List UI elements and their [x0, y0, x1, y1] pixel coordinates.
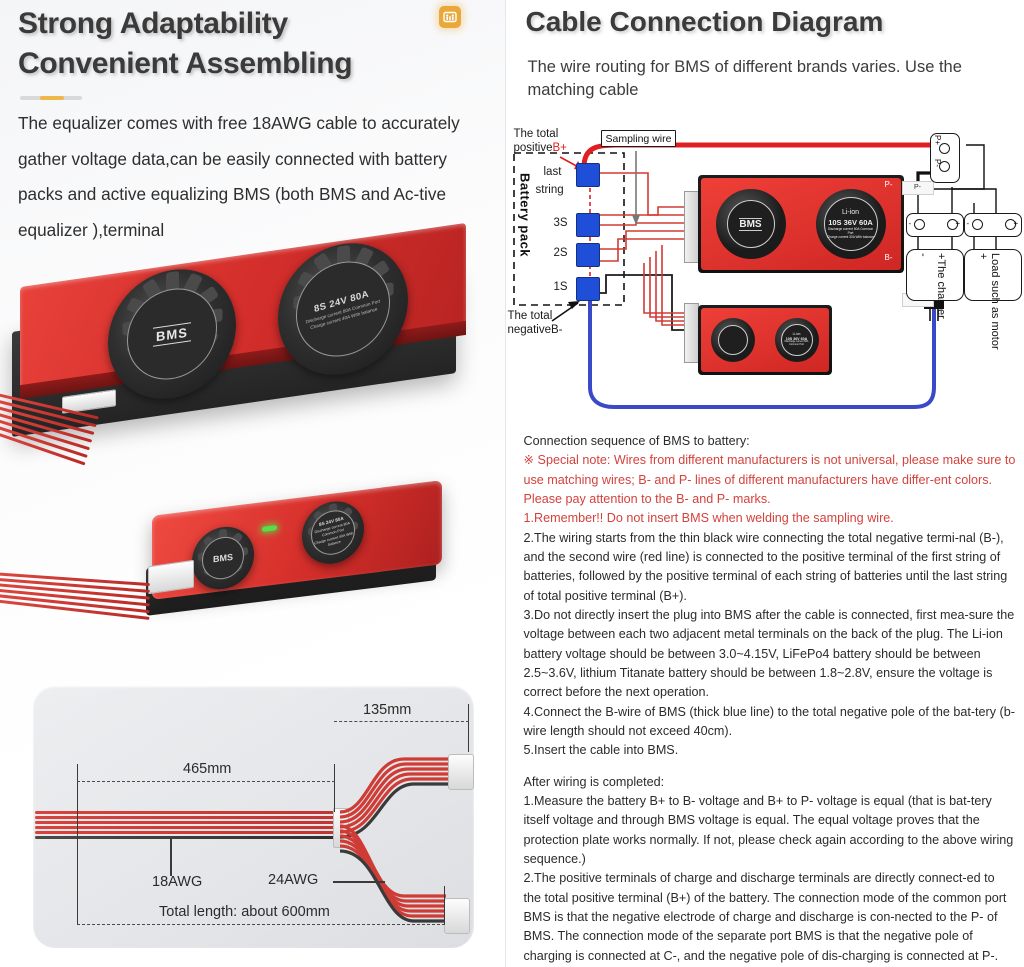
after-wiring-item-1: 1.Measure the battery B+ to B- voltage a… [524, 792, 1016, 869]
bms-unit-face: BMS Li-ion 10S 36V 60A Discharge current… [701, 178, 901, 270]
left-headline: Strong Adaptability Convenient Assemblin… [18, 4, 488, 84]
gauge-label-branch: 24AWG [268, 872, 318, 888]
equalizer-brand-label: BMS [213, 552, 233, 564]
cable-lower-branch [338, 814, 498, 954]
instructions-item-1: 1.Remember!! Do not insert BMS when weld… [524, 509, 1016, 528]
total-length-label: Total length: about 600mm [159, 904, 330, 920]
dim-tick-branch-right [468, 704, 469, 752]
equalizer-model-line-3: Discharge current 60A Common Port [782, 341, 812, 347]
after-wiring-heading: After wiring is completed: [524, 773, 1016, 792]
battery-cell-last [576, 163, 600, 187]
dim-tick-mid [334, 764, 335, 812]
bms-model-line-3: Discharge current 60A Common Port [825, 227, 877, 235]
cell-label-3s: 3S [554, 216, 568, 230]
cell-label-1s: 1S [554, 280, 568, 294]
instructions-heading: Connection sequence of BMS to battery: [524, 432, 1016, 451]
bms-brand-label: BMS [153, 322, 191, 346]
cable-bundle-lower [0, 577, 155, 627]
dim-label-main: 465mm [183, 761, 231, 777]
wiring-schematic: The total positiveB+ The total negativeB… [506, 125, 1024, 425]
equalizer-unit-fan-hub-left [718, 325, 748, 355]
equalizer-unit-fan-left [711, 318, 755, 362]
equalizer-fan-left: BMS [192, 523, 254, 593]
equalizer-unit-face: Li-ion 10S 36V 60A Discharge current 60A… [701, 308, 829, 372]
battery-cell-2s [576, 243, 600, 267]
instructions-special-note: ※ Special note: Wires from different man… [524, 451, 1016, 509]
load-label-plus: + [976, 253, 990, 259]
cell-label-string: string [536, 183, 564, 197]
bms-unit-fan-left: BMS [716, 189, 786, 259]
cable-connector-lower [444, 898, 470, 934]
dim-tick-total-right [444, 886, 445, 925]
charger-minus-dot [914, 219, 925, 230]
battery-cell-3s [576, 213, 600, 237]
dim-tick-left [77, 764, 78, 812]
cable-bundle-upper [0, 403, 110, 463]
instructions-spacer [524, 761, 1016, 773]
headline-line-1: Strong Adaptability [18, 4, 488, 44]
equalizer-unit-fan-right: Li-ion 10S 36V 60A Discharge current 60A… [775, 318, 819, 362]
instructions-item-4: 4.Connect the B-wire of BMS (thick blue … [524, 703, 1016, 742]
cell-label-2s: 2S [554, 246, 568, 260]
bms-unit-main: BMS Li-ion 10S 36V 60A Discharge current… [698, 175, 904, 273]
load-plus-sign: + [1014, 219, 1019, 228]
gauge-label-main: 18AWG [152, 874, 202, 890]
diagram-title: Cable Connection Diagram [526, 6, 884, 38]
instructions-item-3: 3.Do not directly insert the plug into B… [524, 606, 1016, 703]
dim-line-main [77, 781, 335, 782]
right-panel: Cable Connection Diagram The wire routin… [505, 0, 1024, 967]
bms-unit-fan-right: Li-ion 10S 36V 60A Discharge current 60A… [816, 189, 886, 259]
cable-dimension-card: 465mm 135mm 18AWG 24AWG Total length: ab… [33, 686, 474, 948]
charger-minus-sign: - [909, 219, 912, 228]
after-wiring-item-2: 2.The positive terminals of charge and d… [524, 869, 1016, 966]
p-plus-label: P+ [932, 135, 942, 145]
total-positive-label: The total positiveB+ [514, 127, 567, 156]
instruction-text: Connection sequence of BMS to battery: ※… [524, 432, 1016, 966]
board-spec-block: 8S 24V 80A Discharge current 80A Common … [304, 285, 382, 333]
equalizer-unit-diagram: Li-ion 10S 36V 60A Discharge current 60A… [698, 305, 832, 375]
equalizer-unit-fan-hub-right: Li-ion 10S 36V 60A Discharge current 60A… [781, 324, 813, 356]
load-minus-sign: - [967, 219, 970, 228]
sampling-plug-connector [684, 191, 699, 263]
dim-line-branch [334, 721, 469, 722]
p-minus-label: P- [932, 159, 942, 167]
cell-label-last: last [544, 165, 562, 179]
instructions-item-5: 5.Insert the cable into BMS. [524, 741, 1016, 760]
dim-line-total [77, 924, 445, 925]
bms-model-line-4: Charge current 30A With balance [827, 235, 874, 239]
dim-label-branch: 135mm [363, 702, 411, 718]
instructions-item-2: 2.The wiring starts from the thin black … [524, 529, 1016, 606]
bms-port-p-minus: P- [885, 180, 893, 189]
sampling-wire-callout: Sampling wire [601, 130, 677, 147]
battery-cell-1s [576, 277, 600, 301]
headline-underline-accent [40, 96, 64, 100]
gauge-leader-branch [333, 881, 385, 883]
b-plus-mark: B+ [553, 142, 567, 154]
equalizer-fan-right: 8S 24V 80A Discharge current 80A Common … [302, 498, 364, 568]
bms-port-b-minus: B- [885, 253, 893, 262]
cable-connector-upper [448, 754, 474, 790]
wire-tag-p-minus: P- [902, 181, 934, 195]
infographic-page: Strong Adaptability Convenient Assemblin… [0, 0, 1024, 967]
product-photo: BMS 8S 24V 80A Discharge current 80A Com [0, 225, 505, 665]
battery-pack-label: Battery pack [518, 173, 533, 257]
gauge-leader-main [170, 838, 172, 876]
b-minus-mark: B- [551, 324, 563, 336]
total-negative-label: The total negativeB- [508, 309, 563, 338]
diagram-subtitle: The wire routing for BMS of different br… [528, 56, 998, 103]
load-label: Load such as motor [988, 253, 1002, 350]
cable-main-ribbon [35, 811, 345, 843]
load-minus-dot [972, 219, 983, 230]
bms-unit-brand-label: BMS [739, 218, 761, 231]
sampling-plug-connector-2 [684, 303, 699, 363]
bms-unit-fan-hub-right: Li-ion 10S 36V 60A Discharge current 60A… [824, 197, 878, 251]
left-panel: Strong Adaptability Convenient Assemblin… [0, 0, 505, 967]
charger-label: +The charger [934, 253, 948, 319]
bms-unit-fan-hub-left: BMS [727, 200, 775, 248]
dim-tick-total-left [77, 812, 78, 925]
headline-line-2: Convenient Assembling [18, 44, 488, 84]
equalizer-spec-block: 8S 24V 80A Discharge current 80A Common … [311, 513, 355, 552]
charger-plus-sign: + [956, 219, 961, 228]
bms-model-line-2: 10S 36V 60A [828, 218, 873, 227]
bms-model-line-1: Li-ion [842, 209, 859, 218]
charger-label-minus: - [916, 253, 930, 257]
